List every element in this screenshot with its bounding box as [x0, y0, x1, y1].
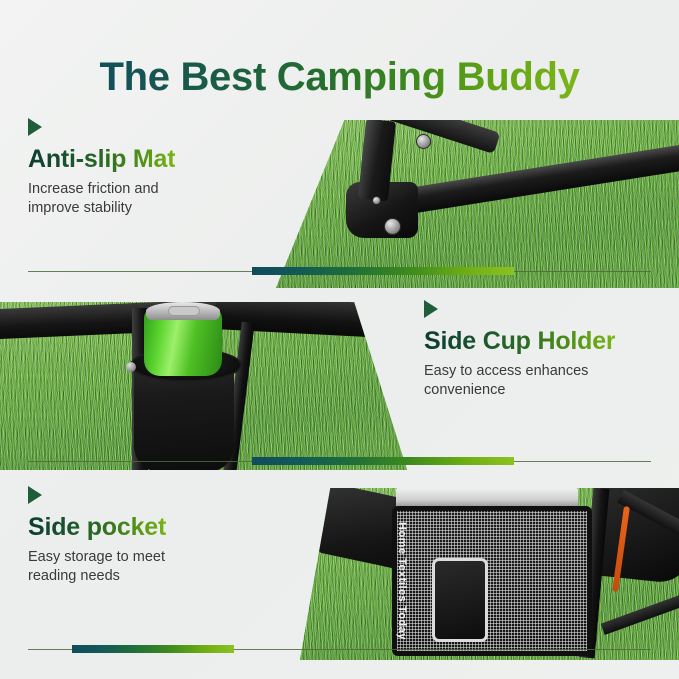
feature-description: Easy storage to meet reading needs [28, 548, 166, 586]
feature-description: Increase friction and improve stability [28, 180, 175, 218]
section-divider [28, 266, 651, 276]
screw-icon [126, 362, 136, 372]
feature-title: Anti-slip Mat [28, 145, 175, 174]
soda-can-tab [168, 306, 200, 316]
play-triangle-icon [424, 300, 438, 318]
feature-title: Side Cup Holder [424, 327, 615, 356]
rivet-icon [416, 134, 431, 149]
feature-text-side-cup-holder: Side Cup Holder Easy to access enhances … [424, 300, 615, 400]
feature-section-side-pocket: Home Textiles Today Side pocket Easy sto… [0, 478, 679, 663]
rivet-icon [372, 196, 381, 205]
cup-holder-with-can-photo [0, 302, 407, 470]
feature-description: Easy to access enhances convenience [424, 362, 615, 400]
divider-gradient-bar [252, 457, 514, 465]
chair-leg-on-grass-photo [276, 120, 679, 288]
section-divider [28, 644, 651, 654]
phone-in-pocket [432, 558, 488, 642]
mesh-texture [397, 511, 587, 651]
page-title: The Best Camping Buddy [99, 55, 579, 100]
feature-title: Side pocket [28, 513, 166, 542]
play-triangle-icon [28, 118, 42, 136]
mesh-side-pocket-photo: Home Textiles Today [300, 488, 679, 660]
feature-text-side-pocket: Side pocket Easy storage to meet reading… [28, 486, 166, 586]
divider-gradient-bar [72, 645, 234, 653]
rivet-icon [384, 218, 401, 235]
play-triangle-icon [28, 486, 42, 504]
feature-section-anti-slip-mat: Anti-slip Mat Increase friction and impr… [0, 110, 679, 290]
feature-section-side-cup-holder: Side Cup Holder Easy to access enhances … [0, 292, 679, 472]
divider-gradient-bar [252, 267, 514, 275]
feature-text-anti-slip-mat: Anti-slip Mat Increase friction and impr… [28, 118, 175, 218]
section-divider [28, 456, 651, 466]
infographic-page: The Best Camping Buddy Anti-slip Mat Inc… [0, 0, 679, 679]
mesh-pocket [392, 506, 592, 656]
magazine-title-text: Home Textiles Today [396, 522, 408, 640]
